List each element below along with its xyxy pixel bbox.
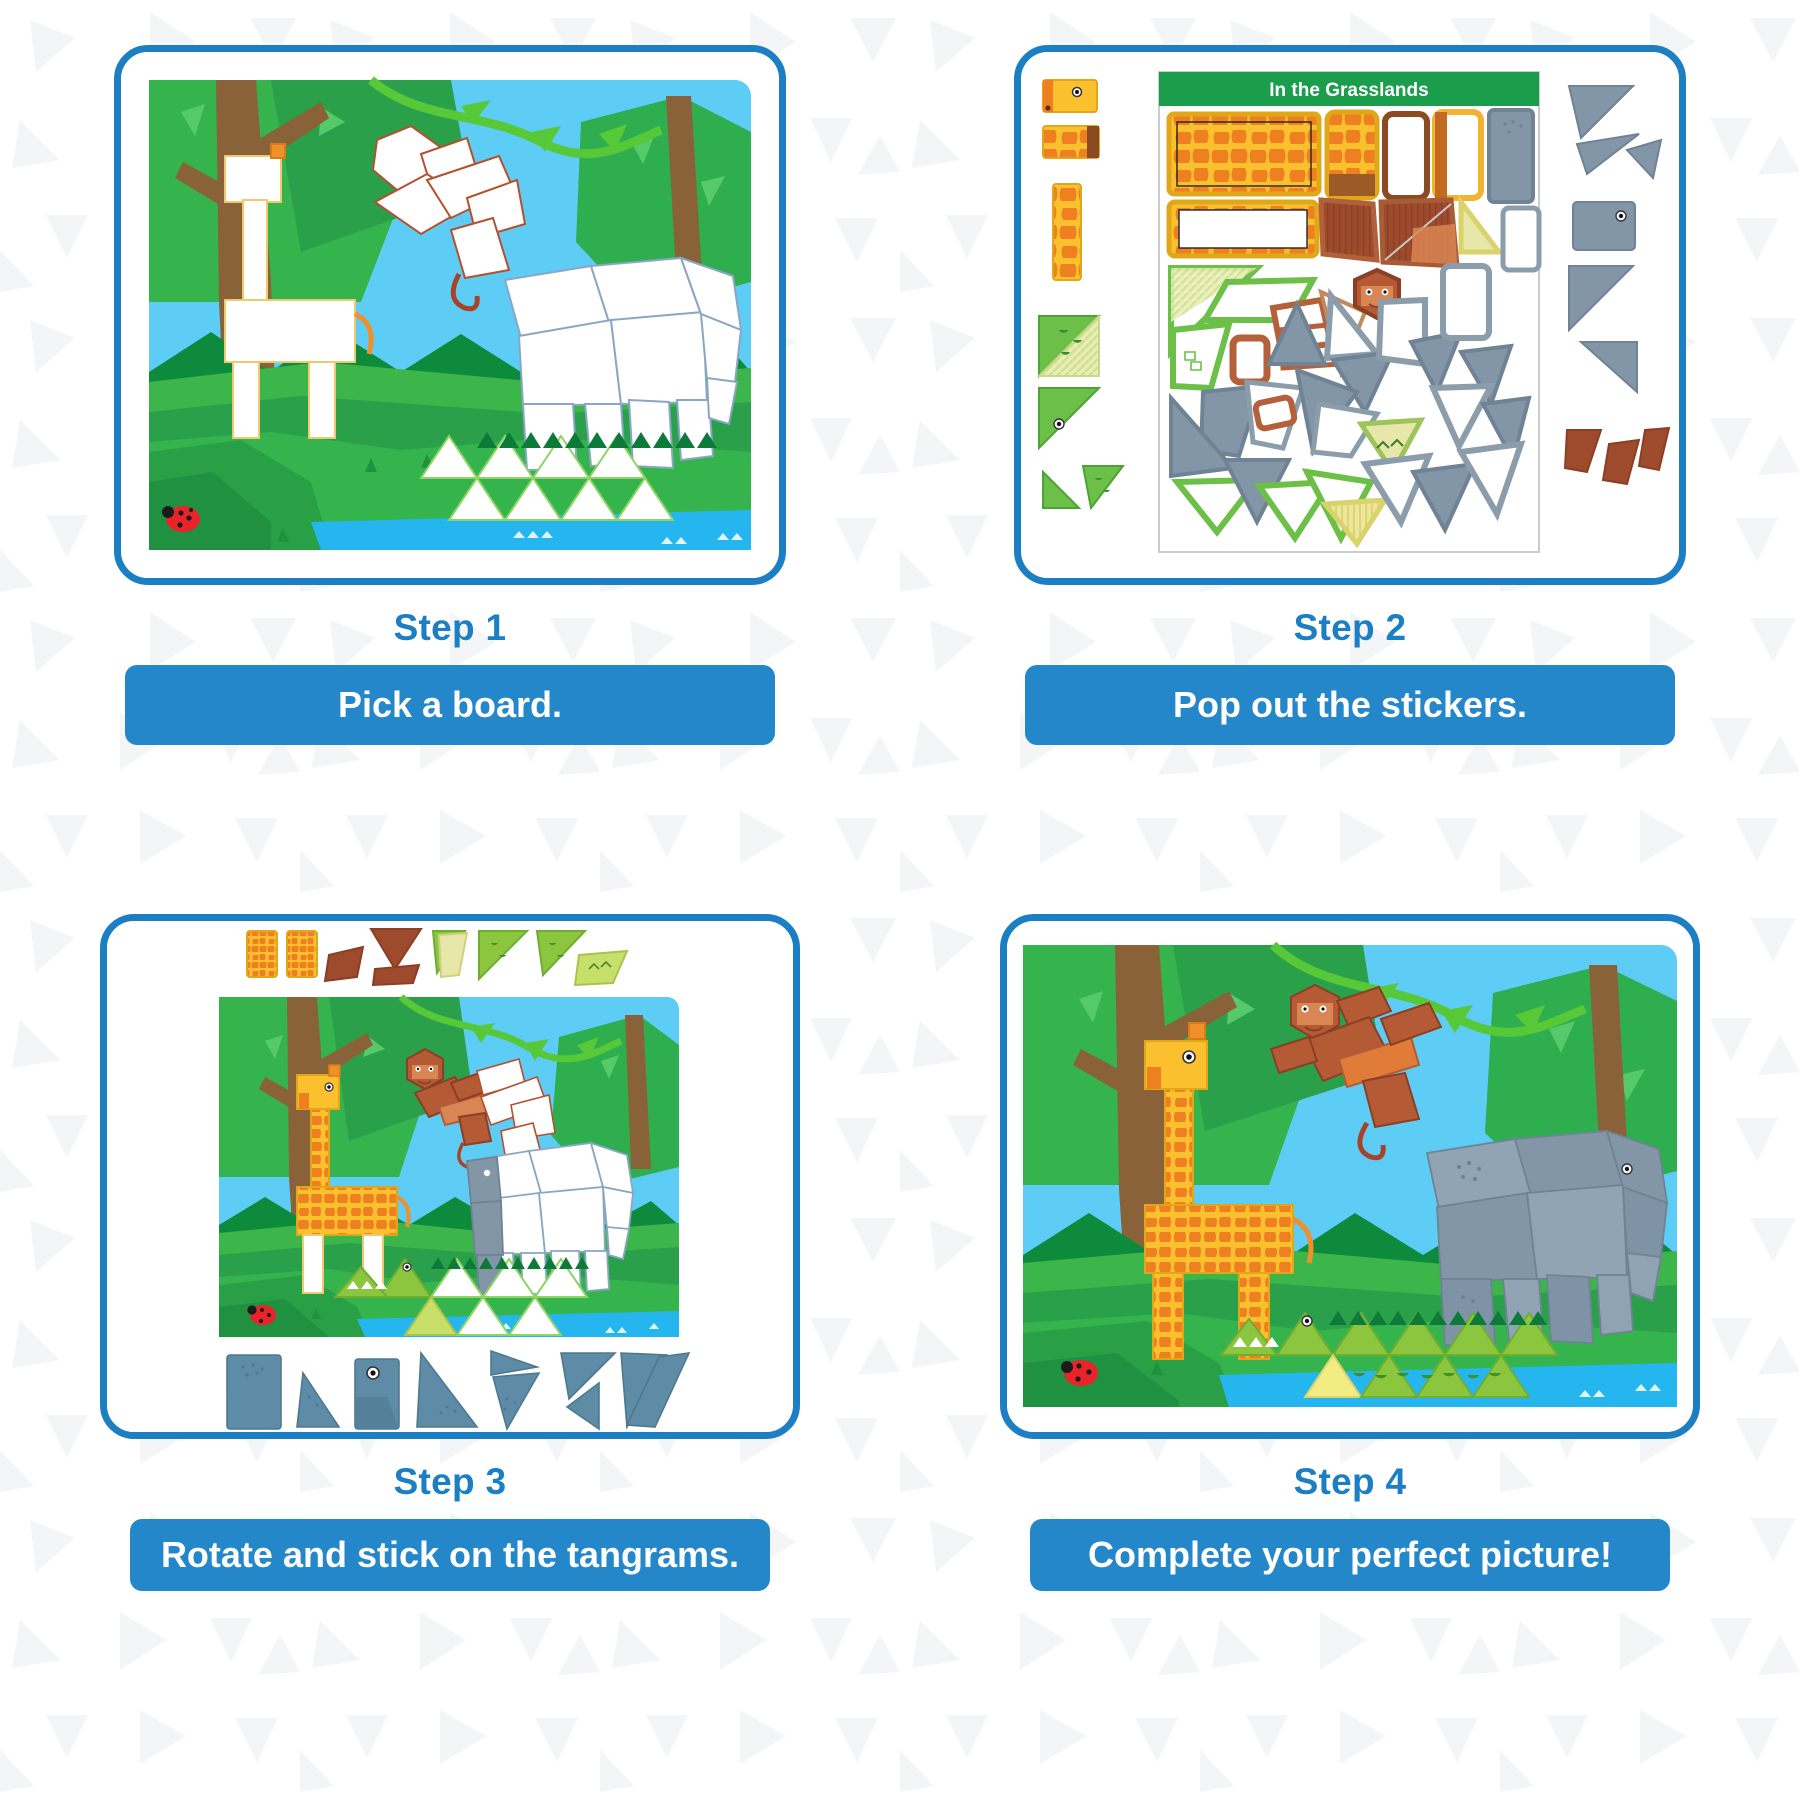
step-cell-4: Step 4 Complete your perfect picture! (900, 900, 1800, 1800)
step-4-label: Step 4 (1294, 1461, 1407, 1503)
step-cell-2: In the Grasslands (900, 0, 1800, 900)
step-2-sticker-sheet-illustration: In the Grasslands (1021, 52, 1679, 578)
step-4-board-illustration (1007, 921, 1693, 1432)
step-1-card[interactable] (114, 45, 786, 585)
step-1-caption[interactable]: Pick a board. (125, 665, 775, 745)
step-3-board-illustration (107, 921, 793, 1432)
step-3-caption[interactable]: Rotate and stick on the tangrams. (130, 1519, 770, 1591)
step-1-label: Step 1 (394, 607, 507, 649)
step-2-caption[interactable]: Pop out the stickers. (1025, 665, 1675, 745)
step-2-card[interactable]: In the Grasslands (1014, 45, 1686, 585)
step-2-label: Step 2 (1294, 607, 1407, 649)
sticker-sheet-body: In the Grasslands (1159, 72, 1539, 552)
step-4-card[interactable] (1000, 914, 1700, 1439)
step-3-label: Step 3 (394, 1461, 507, 1503)
step-1-board-illustration (121, 52, 779, 578)
sticker-sheet-title: In the Grasslands (1269, 80, 1428, 101)
giraffe-horn (271, 144, 285, 158)
step-3-card[interactable] (100, 914, 800, 1439)
step-cell-3: Step 3 Rotate and stick on the tangrams. (0, 900, 900, 1800)
step-4-caption[interactable]: Complete your perfect picture! (1030, 1519, 1670, 1591)
step-cell-1: Step 1 Pick a board. (0, 0, 900, 900)
